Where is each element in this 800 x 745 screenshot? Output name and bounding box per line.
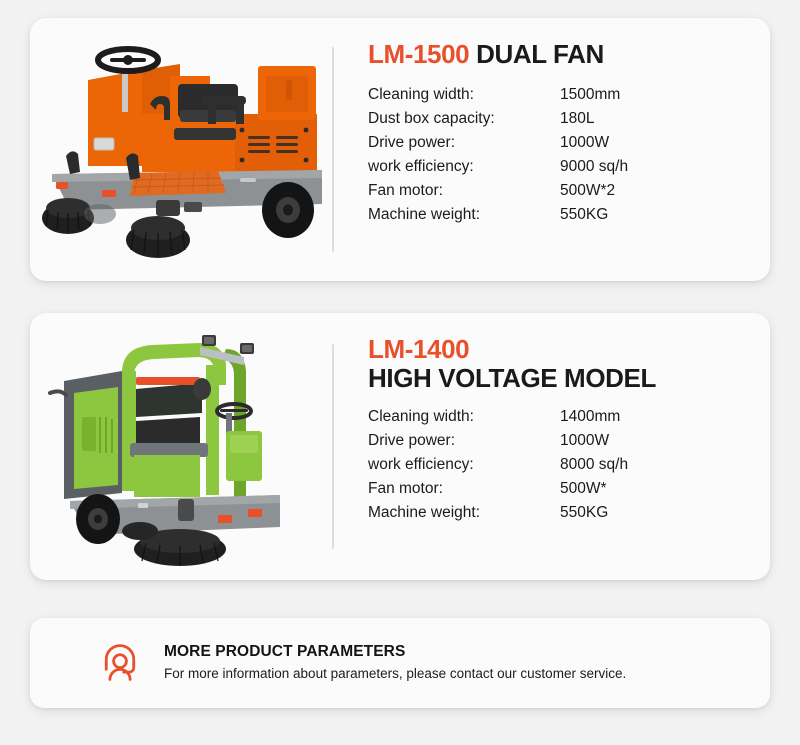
- spec-value: 1000W: [560, 429, 628, 453]
- product-subtitle-lm-1400: HIGH VOLTAGE MODEL: [368, 364, 770, 393]
- product-model-name: DUAL FAN: [476, 39, 604, 69]
- spec-label: Drive power:: [368, 429, 560, 453]
- banner-title: MORE PRODUCT PARAMETERS: [164, 642, 626, 662]
- spec-row: Cleaning width: 1400mm: [368, 405, 628, 429]
- spec-table-lm-1400: Cleaning width: 1400mm Drive power: 1000…: [368, 405, 628, 525]
- spec-value: 550KG: [560, 501, 628, 525]
- product-title-lm-1500: LM-1500 DUAL FAN: [368, 40, 770, 69]
- product-card-lm-1400: LM-1400 HIGH VOLTAGE MODEL Cleaning widt…: [30, 313, 770, 580]
- product-image-lm-1500: [30, 18, 332, 281]
- spec-label: work efficiency:: [368, 155, 560, 179]
- spec-label: Cleaning width:: [368, 405, 560, 429]
- spec-row: Dust box capacity: 180L: [368, 107, 628, 131]
- spec-value: 1500mm: [560, 83, 628, 107]
- more-parameters-banner: MORE PRODUCT PARAMETERS For more informa…: [30, 618, 770, 708]
- spec-label: Fan motor:: [368, 179, 560, 203]
- product-model-code: LM-1500: [368, 39, 469, 69]
- product-title-lm-1400: LM-1400: [368, 335, 770, 364]
- spec-row: work efficiency: 9000 sq/h: [368, 155, 628, 179]
- spec-value: 500W*: [560, 477, 628, 501]
- spec-label: Cleaning width:: [368, 83, 560, 107]
- spec-label: Dust box capacity:: [368, 107, 560, 131]
- spec-table-lm-1500: Cleaning width: 1500mm Dust box capacity…: [368, 83, 628, 227]
- spec-row: Cleaning width: 1500mm: [368, 83, 628, 107]
- spec-row: Drive power: 1000W: [368, 131, 628, 155]
- spec-row: Machine weight: 550KG: [368, 203, 628, 227]
- spec-value: 1000W: [560, 131, 628, 155]
- product-card-lm-1500: LM-1500 DUAL FAN Cleaning width: 1500mm …: [30, 18, 770, 281]
- spec-value: 8000 sq/h: [560, 453, 628, 477]
- spec-row: work efficiency: 8000 sq/h: [368, 453, 628, 477]
- green-sweeper-illustration: [30, 313, 332, 580]
- spec-row: Drive power: 1000W: [368, 429, 628, 453]
- spec-label: work efficiency:: [368, 453, 560, 477]
- spec-value: 9000 sq/h: [560, 155, 628, 179]
- orange-sweeper-illustration: [30, 18, 332, 281]
- spec-value: 1400mm: [560, 405, 628, 429]
- product-model-code: LM-1400: [368, 334, 469, 364]
- customer-service-headset-icon: [98, 641, 142, 685]
- spec-row: Fan motor: 500W*2: [368, 179, 628, 203]
- spec-value: 500W*2: [560, 179, 628, 203]
- product-image-lm-1400: [30, 313, 332, 580]
- banner-subtitle: For more information about parameters, p…: [164, 664, 626, 684]
- spec-value: 550KG: [560, 203, 628, 227]
- spec-label: Fan motor:: [368, 477, 560, 501]
- spec-row: Fan motor: 500W*: [368, 477, 628, 501]
- spec-label: Drive power:: [368, 131, 560, 155]
- spec-label: Machine weight:: [368, 501, 560, 525]
- spec-label: Machine weight:: [368, 203, 560, 227]
- spec-row: Machine weight: 550KG: [368, 501, 628, 525]
- spec-value: 180L: [560, 107, 628, 131]
